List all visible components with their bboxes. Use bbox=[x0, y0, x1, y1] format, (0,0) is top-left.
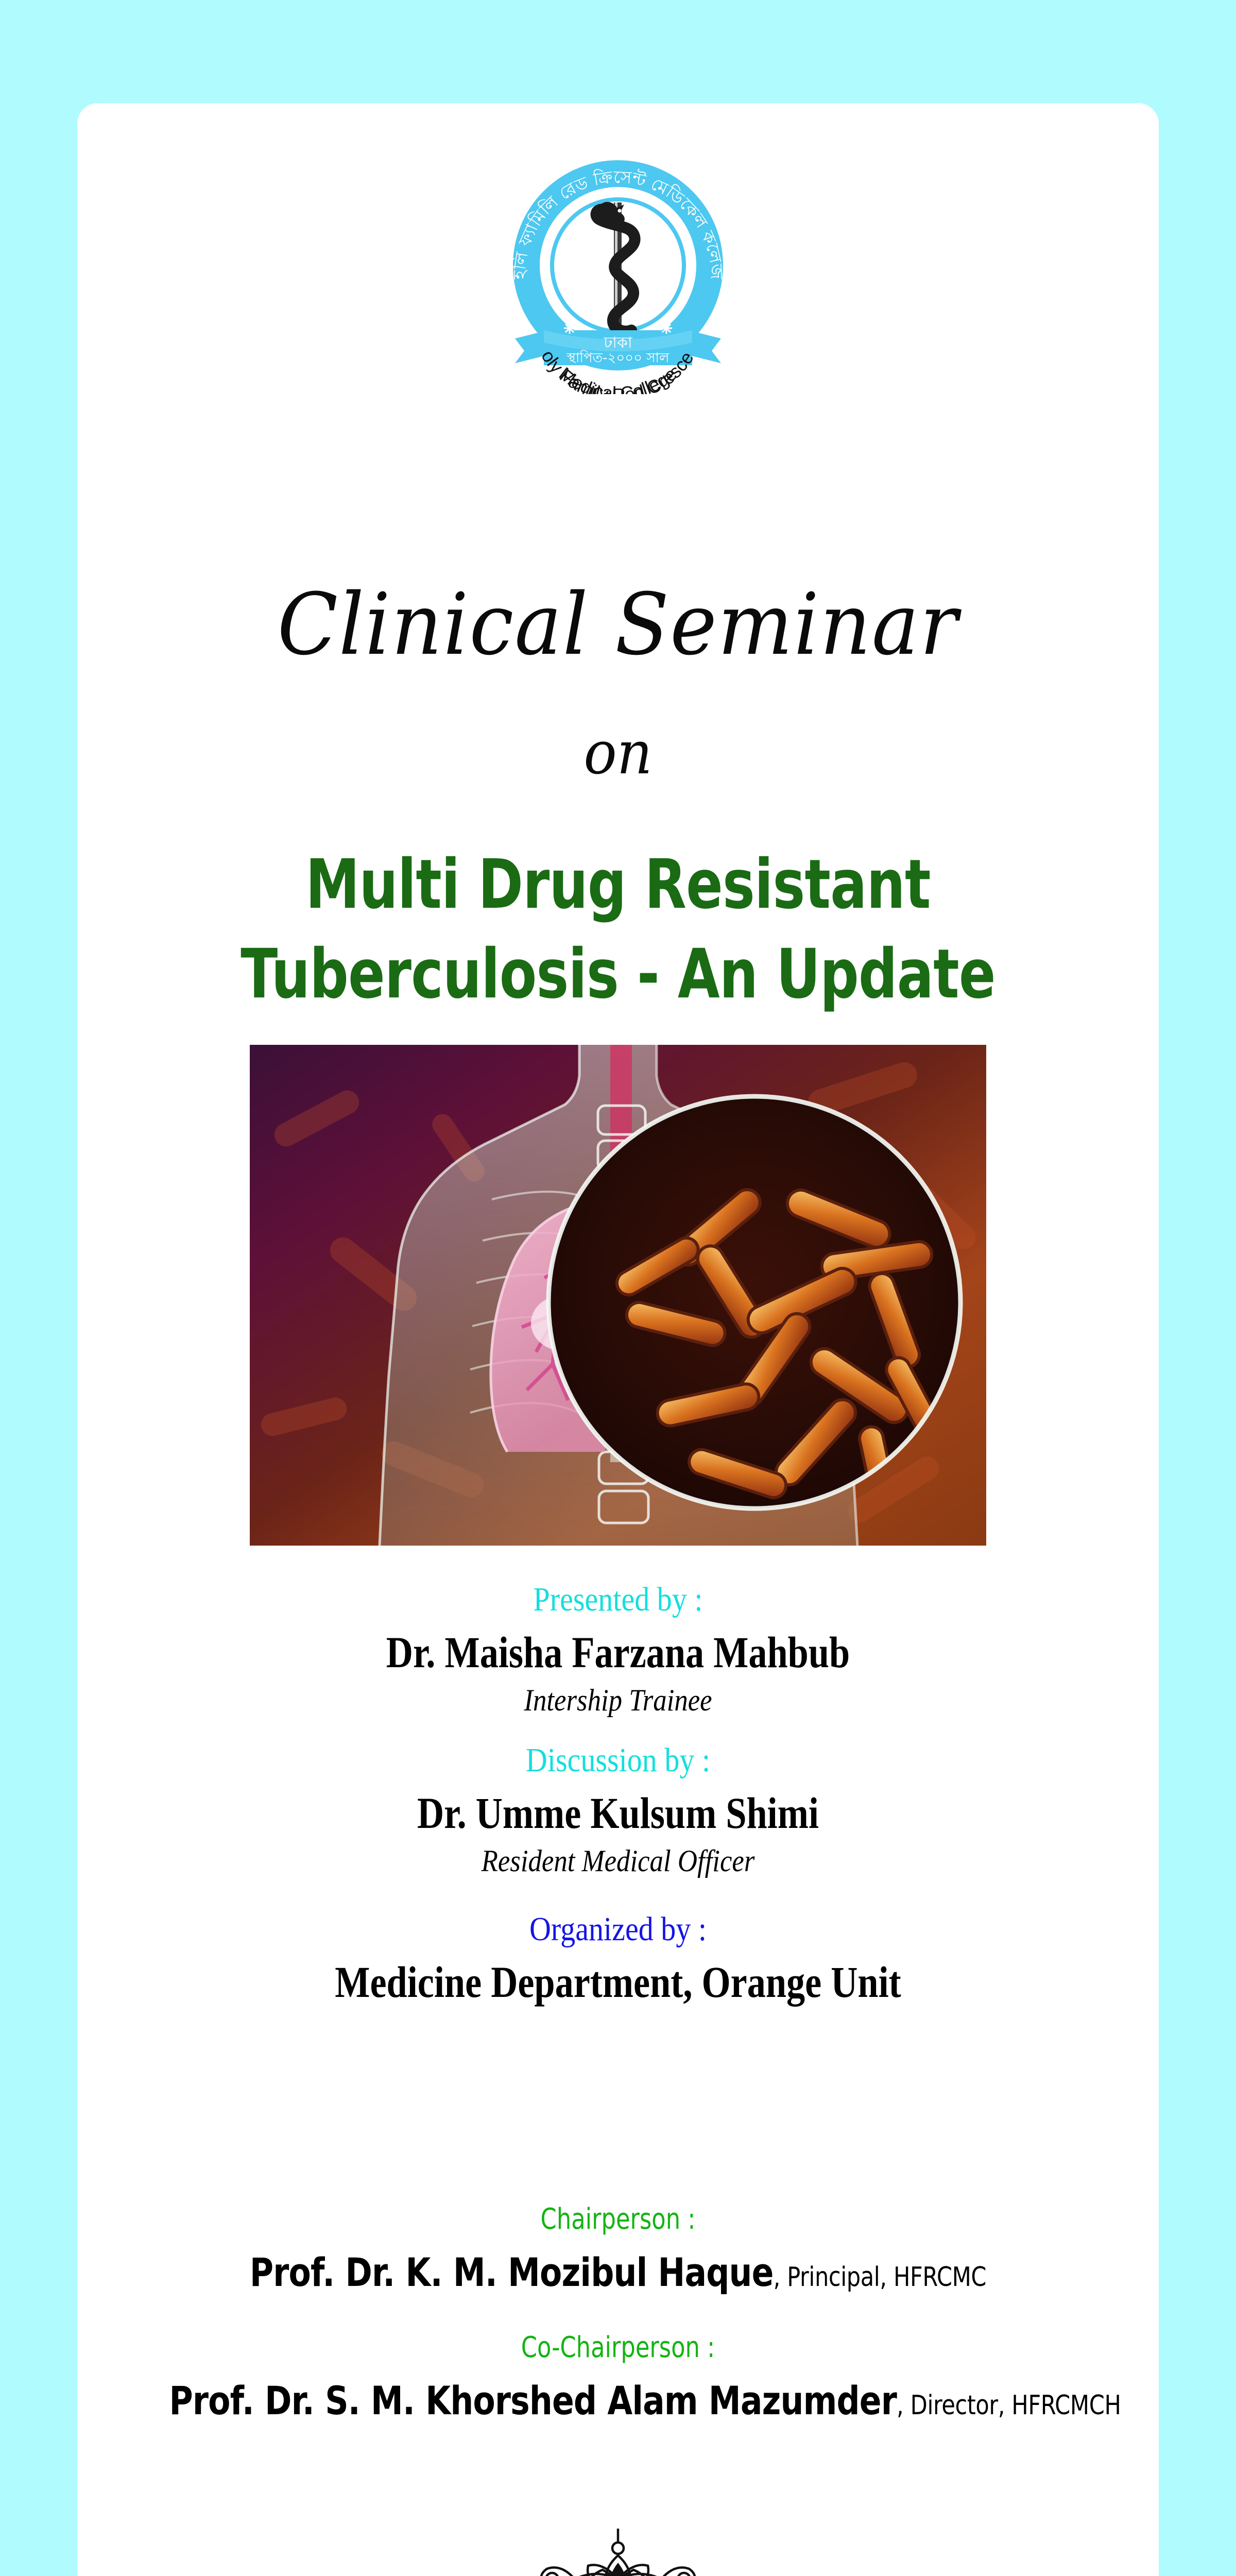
co-chairperson-name: Prof. Dr. S. M. Khorshed Alam Mazumder bbox=[169, 2378, 897, 2424]
credits-section: Presented by : Dr. Maisha Farzana Mahbub… bbox=[77, 1583, 1159, 2004]
poster-card: হলি ফ্যামিলি রেড ক্রিসেন্ট মেডিকেল কলেজ … bbox=[77, 103, 1159, 2576]
discussion-by-label: Discussion by : bbox=[142, 1743, 1094, 1777]
red-crescent-emblem-icon: হলি ফ্যামিলি রেড ক্রিসেন্ট মেডিকেল কলেজ … bbox=[494, 147, 742, 394]
lungs-and-bacilli-image bbox=[250, 1045, 986, 1546]
tuberculosis-illustration bbox=[250, 1045, 986, 1546]
chairs-section: Chairperson : Prof. Dr. K. M. Mozibul Ha… bbox=[77, 2205, 1159, 2424]
headline-line-2: Tuberculosis - An Update bbox=[185, 929, 1051, 1019]
svg-text:স্থাপিত-২০০০ সাল: স্থাপিত-২০০০ সাল bbox=[566, 350, 669, 366]
organized-by-label: Organized by : bbox=[142, 1912, 1094, 1946]
college-logo: হলি ফ্যামিলি রেড ক্রিসেন্ট মেডিকেল কলেজ … bbox=[77, 147, 1159, 394]
presented-by-label: Presented by : bbox=[142, 1583, 1094, 1617]
presenter-name: Dr. Maisha Farzana Mahbub bbox=[164, 1630, 1072, 1674]
divider bbox=[525, 2519, 711, 2576]
co-chairperson-label: Co-Chairperson : bbox=[185, 2333, 1051, 2362]
page-title: Multi Drug Resistant Tuberculosis - An U… bbox=[185, 840, 1051, 1019]
presenter-role: Intership Trainee bbox=[142, 1685, 1094, 1716]
discussant-role: Resident Medical Officer bbox=[142, 1845, 1094, 1876]
floral-ornament-divider-icon bbox=[525, 2519, 711, 2576]
seminar-poster: হলি ফ্যামিলি রেড ক্রিসেন্ট মেডিকেল কলেজ … bbox=[0, 0, 1236, 2576]
chairperson-post: , Principal, HFRCMC bbox=[774, 2262, 987, 2293]
discussant-name: Dr. Umme Kulsum Shimi bbox=[164, 1791, 1072, 1835]
co-chairperson-post: , Director, HFRCMCH bbox=[897, 2390, 1121, 2421]
spacer bbox=[77, 1876, 1159, 1912]
svg-text:ঢাকা: ঢাকা bbox=[603, 334, 633, 352]
spacer bbox=[77, 2295, 1159, 2333]
chairperson-name: Prof. Dr. K. M. Mozibul Haque bbox=[250, 2249, 774, 2295]
seminar-script-connector: on bbox=[115, 724, 1121, 783]
headline-line-1: Multi Drug Resistant bbox=[185, 840, 1051, 929]
co-chairperson-line: Prof. Dr. S. M. Khorshed Alam Mazumder, … bbox=[169, 2378, 1067, 2424]
seminar-script-title: Clinical Seminar bbox=[115, 582, 1121, 667]
organizer-name: Medicine Department, Orange Unit bbox=[164, 1960, 1072, 2004]
chairperson-label: Chairperson : bbox=[185, 2205, 1051, 2234]
chairperson-line: Prof. Dr. K. M. Mozibul Haque, Principal… bbox=[169, 2249, 1067, 2295]
spacer bbox=[77, 1716, 1159, 1743]
